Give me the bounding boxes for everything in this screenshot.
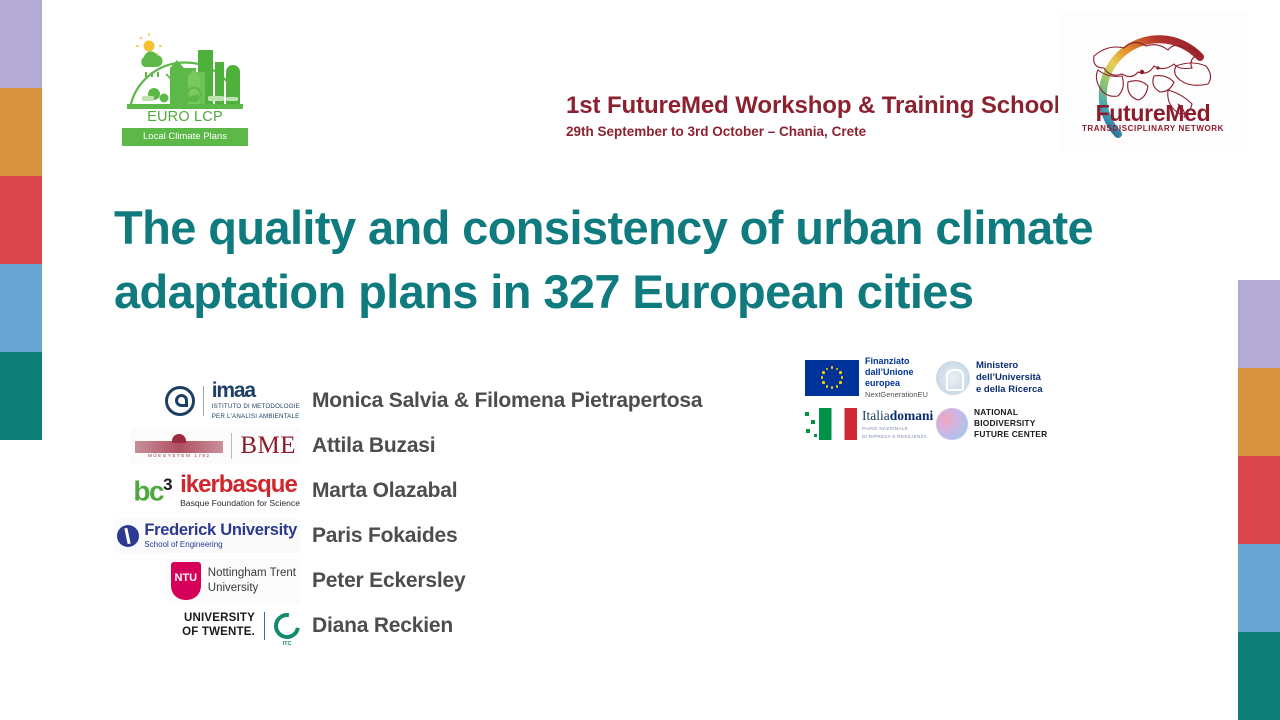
- frederick-university-logo: Frederick University School of Engineeri…: [90, 515, 300, 557]
- twente-name-line1: UNIVERSITY: [182, 612, 255, 625]
- color-bar-segment-2: [0, 176, 42, 264]
- italiadomani-sub1: PIANO NAZIONALE: [862, 426, 933, 432]
- ministero-line2: dell’Università: [976, 372, 1043, 384]
- ntu-name-line1: Nottingham Trent: [208, 566, 296, 580]
- ministero-line3: e della Ricerca: [976, 384, 1043, 396]
- color-bar-segment-4: [0, 352, 42, 440]
- author-name: Peter Eckersley: [312, 569, 465, 593]
- futuremed-logo-name: FutureMed: [1058, 100, 1248, 127]
- italiadomani-sub2: DI RIPRESA E RESILIENZA: [862, 434, 933, 440]
- author-name: Paris Fokaides: [312, 524, 457, 548]
- nottingham-trent-university-logo: NTU Nottingham Trent University: [90, 560, 300, 602]
- divider: [231, 433, 232, 459]
- color-bar-segment-1: [0, 88, 42, 176]
- bme-caption: MŰEGYETEM 1782: [135, 453, 223, 458]
- university-of-twente-itc-logo: UNIVERSITY OF TWENTE. ITC: [90, 605, 300, 647]
- nbfc-line3: FUTURE CENTER: [974, 429, 1047, 440]
- futuremed-logo: FutureMed TRANSDISCIPLINARY NETWORK: [1058, 12, 1248, 152]
- color-bar-segment-3: [0, 264, 42, 352]
- frederick-name: Frederick University: [144, 522, 297, 539]
- ikerbasque-wordmark: ikerbasque: [180, 473, 300, 497]
- workshop-header: 1st FutureMed Workshop & Training School…: [566, 92, 1086, 139]
- itc-spiral-icon: ITC: [274, 613, 300, 639]
- author-name: Attila Buzasi: [312, 434, 435, 458]
- bme-building-icon: MŰEGYETEM 1782: [135, 434, 223, 458]
- bc3-ikerbasque-logo: bc3 ikerbasque Basque Foundation for Sci…: [90, 470, 300, 512]
- eu-nextgeneration-logo: Finanziato dall’Unione europea NextGener…: [805, 356, 936, 399]
- nbfc-line1: NATIONAL: [974, 407, 1047, 418]
- author-row: bc3 ikerbasque Basque Foundation for Sci…: [90, 468, 790, 513]
- eu-line2: dall’Unione europea: [865, 367, 936, 389]
- author-row: MŰEGYETEM 1782 BME Attila Buzasi: [90, 423, 790, 468]
- color-bar-segment-0: [1238, 280, 1280, 368]
- frederick-school: School of Engineering: [144, 541, 297, 549]
- eu-line1: Finanziato: [865, 356, 936, 367]
- imaa-acronym: imaa: [212, 380, 300, 401]
- italy-flag-icon: [805, 408, 857, 440]
- euro-lcp-logo-tagline: Local Climate Plans: [122, 128, 248, 146]
- italiadomani-logo: Italiadomani PIANO NAZIONALE DI RIPRESA …: [805, 408, 936, 440]
- workshop-title: 1st FutureMed Workshop & Training School: [566, 92, 1086, 120]
- author-row: NTU Nottingham Trent University Peter Ec…: [90, 558, 790, 603]
- divider: [203, 386, 204, 416]
- color-bar-segment-4: [1238, 632, 1280, 720]
- author-name: Monica Salvia & Filomena Pietrapertosa: [312, 389, 702, 413]
- divider: [264, 612, 265, 640]
- page-title: The quality and consistency of urban cli…: [114, 196, 1214, 324]
- cnr-icon: [165, 386, 195, 416]
- bc3-wordmark: bc3: [133, 476, 171, 505]
- presentation-slide: EURO LCP Initiative Local Climate Plans …: [0, 0, 1280, 720]
- author-name: Diana Reckien: [312, 614, 453, 638]
- euro-lcp-logo-name: EURO LCP Initiative: [122, 106, 248, 128]
- ministero-line1: Ministero: [976, 360, 1043, 372]
- twente-name-line2: OF TWENTE.: [182, 626, 255, 639]
- imaa-subtitle-line1: ISTITUTO DI METODOLOGIE: [212, 403, 300, 411]
- authors-list: imaa ISTITUTO DI METODOLOGIE PER L'ANALI…: [90, 378, 790, 648]
- nbfc-sphere-icon: [936, 408, 968, 440]
- left-color-bar: [0, 0, 42, 440]
- ntu-shield-icon: NTU: [171, 562, 201, 600]
- workshop-dates-location: 29th September to 3rd October – Chania, …: [566, 124, 1086, 139]
- author-name: Marta Olazabal: [312, 479, 457, 503]
- author-row: imaa ISTITUTO DI METODOLOGIE PER L'ANALI…: [90, 378, 790, 423]
- itc-label: ITC: [274, 641, 300, 647]
- bme-acronym: BME: [240, 433, 296, 458]
- color-bar-segment-3: [1238, 544, 1280, 632]
- right-color-bar: [1238, 280, 1280, 720]
- futuremed-logo-tagline: TRANSDISCIPLINARY NETWORK: [1058, 124, 1248, 133]
- euro-lcp-initiative-logo: EURO LCP Initiative Local Climate Plans: [122, 32, 248, 150]
- author-row: Frederick University School of Engineeri…: [90, 513, 790, 558]
- bme-logo: MŰEGYETEM 1782 BME: [90, 425, 300, 467]
- ikerbasque-tagline: Basque Foundation for Science: [180, 499, 300, 508]
- color-bar-segment-2: [1238, 456, 1280, 544]
- euro-lcp-skyline-icon: [122, 32, 248, 112]
- italian-republic-emblem-icon: [936, 361, 970, 395]
- nbfc-line2: BIODIVERSITY: [974, 418, 1047, 429]
- ministero-universita-ricerca-logo: Ministero dell’Università e della Ricerc…: [936, 360, 1067, 396]
- italiadomani-wordmark: Italiadomani: [862, 408, 933, 424]
- color-bar-segment-0: [0, 0, 42, 88]
- funding-logos: Finanziato dall’Unione europea NextGener…: [805, 356, 1067, 448]
- ntu-name-line2: University: [208, 581, 296, 595]
- cnr-imaa-logo: imaa ISTITUTO DI METODOLOGIE PER L'ANALI…: [90, 380, 300, 422]
- author-row: UNIVERSITY OF TWENTE. ITC Diana Reckien: [90, 603, 790, 648]
- national-biodiversity-future-center-logo: NATIONAL BIODIVERSITY FUTURE CENTER: [936, 407, 1067, 440]
- color-bar-segment-1: [1238, 368, 1280, 456]
- frederick-emblem-icon: [117, 525, 139, 547]
- imaa-subtitle-line2: PER L'ANALISI AMBIENTALE: [212, 413, 300, 421]
- eu-line3: NextGenerationEU: [865, 390, 936, 399]
- eu-flag-icon: [805, 360, 859, 396]
